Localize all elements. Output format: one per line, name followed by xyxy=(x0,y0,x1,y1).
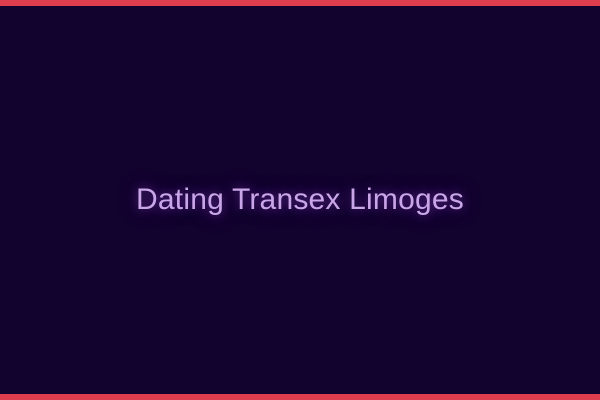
page-title: Dating Transex Limoges xyxy=(136,182,464,218)
banner-canvas: Dating Transex Limoges xyxy=(0,0,600,400)
bottom-accent-bar xyxy=(0,394,600,400)
title-area: Dating Transex Limoges xyxy=(0,6,600,394)
